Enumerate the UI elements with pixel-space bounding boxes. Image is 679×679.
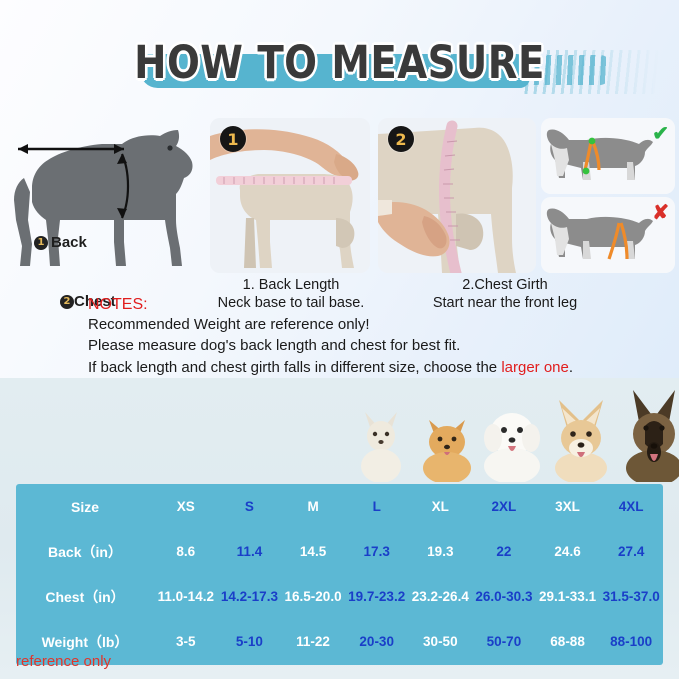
chest-2xl: 26.0-30.3: [472, 589, 536, 604]
notes-line-3-a: If back length and chest girth falls in …: [88, 359, 501, 376]
table-row-weight: Weight（lb） 3-5 5-10 11-22 20-30 30-50 50…: [16, 619, 663, 664]
dog-german-shepherd: [626, 390, 679, 482]
weight-m: 11-22: [281, 634, 345, 649]
size-chart-table: Size XS S M L XL 2XL 3XL 4XL Back（in） 8.…: [16, 484, 663, 665]
back-s: 11.4: [218, 544, 282, 559]
chest-3xl: 29.1-33.1: [536, 589, 600, 604]
dog-chihuahua: [361, 412, 401, 482]
back-l: 17.3: [345, 544, 409, 559]
table-header-xl: XL: [409, 499, 473, 514]
back-m: 14.5: [281, 544, 345, 559]
table-header-row: Size XS S M L XL 2XL 3XL 4XL: [16, 484, 663, 529]
photo-chest-girth: 2: [378, 118, 536, 273]
table-header-2xl: 2XL: [472, 499, 536, 514]
notes-line-3-b: .: [569, 359, 573, 376]
dog-bichon: [484, 413, 540, 482]
notes-block: NOTES: Recommended Weight are reference …: [88, 296, 573, 378]
page-title: HOW TO MEASURE: [48, 36, 632, 89]
chest-s: 14.2-17.3: [218, 589, 282, 604]
notes-line-1: Recommended Weight are reference only!: [88, 314, 573, 335]
row-label-chest: Chest（in）: [16, 587, 154, 607]
back-measure-label: 1Back: [34, 234, 87, 251]
notes-heading: NOTES:: [88, 296, 573, 314]
row-label-back: Back（in）: [16, 542, 154, 562]
caption-back-title: 1. Back Length: [196, 276, 386, 294]
chest-l: 19.7-23.2: [345, 589, 409, 604]
caption-chest-title: 2.Chest Girth: [400, 276, 610, 294]
notes-line-3: If back length and chest girth falls in …: [88, 357, 573, 378]
photo-correct-measure: ✔: [541, 118, 675, 194]
notes-line-2: Please measure dog's back length and che…: [88, 335, 573, 356]
chest-4xl: 31.5-37.0: [599, 589, 663, 604]
table-header-m: M: [281, 499, 345, 514]
weight-2xl: 50-70: [472, 634, 536, 649]
table-header-l: L: [345, 499, 409, 514]
chest-xl: 23.2-26.4: [409, 589, 473, 604]
table-header-3xl: 3XL: [536, 499, 600, 514]
weight-3xl: 68-88: [536, 634, 600, 649]
dog-pomeranian: [423, 420, 471, 482]
weight-xs: 3-5: [154, 634, 218, 649]
dog-corgi: [555, 400, 607, 482]
dog-silhouette-diagram: 1Back 2Chest: [4, 116, 204, 276]
size-chart-infographic: HOW TO MEASURE 1Back 2Chest: [0, 0, 679, 679]
back-xs: 8.6: [154, 544, 218, 559]
weight-xl: 30-50: [409, 634, 473, 649]
table-header-xs: XS: [154, 499, 218, 514]
table-row-chest: Chest（in） 11.0-14.2 14.2-17.3 16.5-20.0 …: [16, 574, 663, 619]
back-2xl: 22: [472, 544, 536, 559]
weight-l: 20-30: [345, 634, 409, 649]
badge-two: 2: [60, 295, 74, 309]
chest-m: 16.5-20.0: [281, 589, 345, 604]
back-xl: 19.3: [409, 544, 473, 559]
weight-s: 5-10: [218, 634, 282, 649]
photo-incorrect-measure: ✘: [541, 197, 675, 273]
photo-badge-two: 2: [388, 126, 414, 152]
weight-4xl: 88-100: [599, 634, 663, 649]
back-4xl: 27.4: [599, 544, 663, 559]
reference-only-footnote: reference only: [16, 653, 111, 670]
back-label-text: Back: [51, 234, 87, 251]
table-header-4xl: 4XL: [599, 499, 663, 514]
photo-back-length: 1: [210, 118, 370, 273]
badge-one: 1: [34, 236, 48, 250]
table-header-s: S: [218, 499, 282, 514]
table-header-size: Size: [16, 499, 154, 515]
correct-check-icon: ✔: [652, 121, 669, 146]
dog-silhouette-svg: [4, 116, 204, 276]
notes-line-3-emphasis: larger one: [501, 359, 569, 376]
chest-xs: 11.0-14.2: [154, 589, 218, 604]
incorrect-cross-icon: ✘: [652, 200, 669, 225]
title-banner: HOW TO MEASURE: [0, 36, 679, 98]
back-3xl: 24.6: [536, 544, 600, 559]
row-label-weight: Weight（lb）: [16, 632, 154, 652]
table-row-back: Back（in） 8.6 11.4 14.5 17.3 19.3 22 24.6…: [16, 529, 663, 574]
photo-badge-one: 1: [220, 126, 246, 152]
upper-section: HOW TO MEASURE 1Back 2Chest: [0, 0, 679, 378]
dog-breed-photos: [345, 382, 679, 482]
